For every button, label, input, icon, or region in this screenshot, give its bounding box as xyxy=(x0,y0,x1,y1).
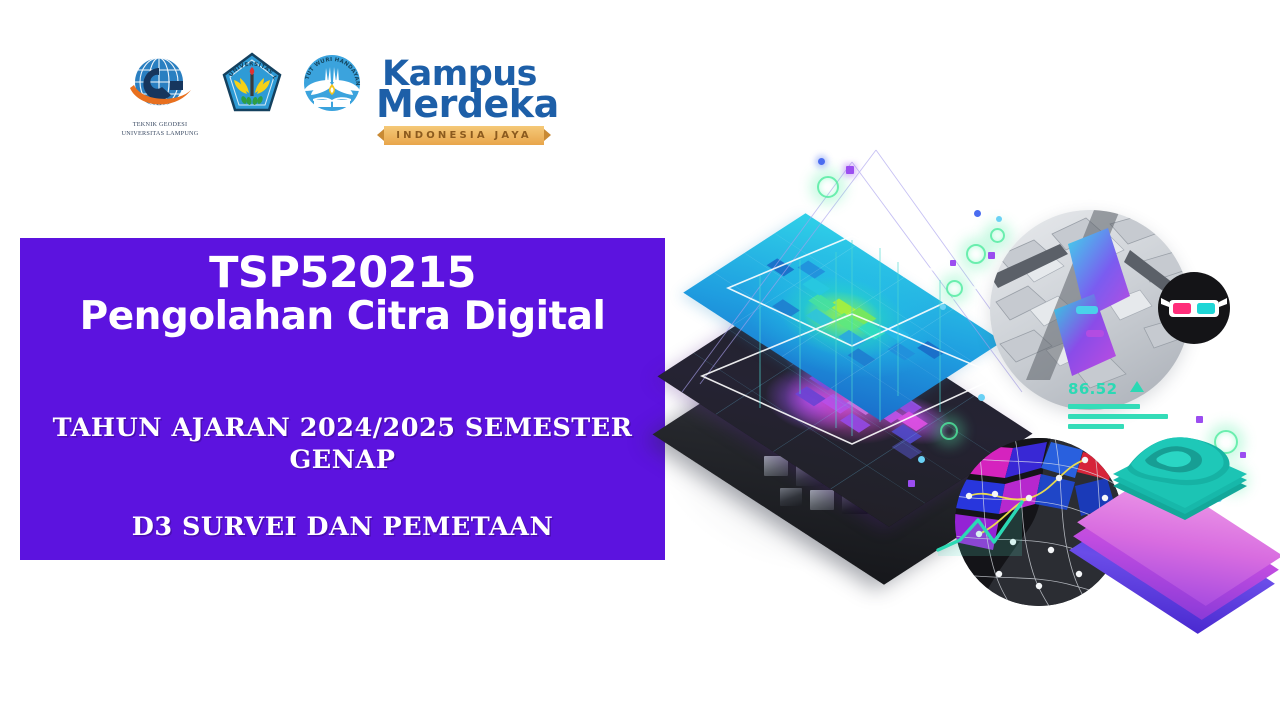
glow-ring xyxy=(817,176,839,198)
particle-square xyxy=(908,480,915,487)
academic-year: TAHUN AJARAN 2024/2025 SEMESTER GENAP xyxy=(20,412,665,477)
logo-tut-wuri-handayani: TUT WURI HANDAYANI xyxy=(296,48,368,148)
isometric-geospatial-illustration: 86.52 xyxy=(640,140,1260,590)
logo-caption: TEKNIK GEODESI UNIVERSITAS LAMPUNG xyxy=(112,120,208,139)
glow-ring xyxy=(966,244,986,264)
readout-bar xyxy=(1068,414,1168,419)
logo-universitas-lampung: UNIVERSITAS LAMPUNG xyxy=(216,48,288,148)
particle-dot xyxy=(996,216,1002,222)
kampus-merdeka-line2: Merdeka xyxy=(376,82,559,126)
particle-dot xyxy=(978,394,985,401)
course-title-block: TSP520215 Pengolahan Citra Digital TAHUN… xyxy=(20,238,665,560)
logo-bar: TEKNIK GEODESI UNIVERSITAS LAMPUNG UNIVE… xyxy=(112,48,572,148)
contour-elevation-stack xyxy=(1095,428,1265,578)
course-title: Pengolahan Citra Digital xyxy=(20,295,665,340)
logo-teknik-geodesi: TEKNIK GEODESI UNIVERSITAS LAMPUNG xyxy=(112,48,208,148)
glow-ring xyxy=(946,280,963,297)
trend-sparkline xyxy=(930,488,1050,568)
particle-dot xyxy=(974,210,981,217)
kemdikbud-seal-icon: TUT WURI HANDAYANI xyxy=(300,50,364,120)
logo-caption-line2: UNIVERSITAS LAMPUNG xyxy=(112,129,208,138)
particle-square xyxy=(846,166,854,174)
kampus-merdeka-ribbon-text: INDONESIA JAYA xyxy=(396,130,532,141)
3d-glasses-badge xyxy=(1158,272,1230,344)
logo-kampus-merdeka: Kampus Merdeka INDONESIA JAYA xyxy=(376,48,554,148)
particle-dot xyxy=(818,158,825,165)
particle-dot xyxy=(918,456,925,463)
course-code: TSP520215 xyxy=(20,238,665,295)
readout-value: 86.52 xyxy=(1068,380,1117,398)
particle-square xyxy=(950,260,956,266)
particle-dot xyxy=(940,304,946,310)
particle-square xyxy=(988,252,995,259)
3d-glasses-icon xyxy=(1158,272,1230,344)
glow-ring xyxy=(990,228,1005,243)
globe-g-icon xyxy=(126,54,194,120)
study-program: D3 SURVEI DAN PEMETAAN xyxy=(20,511,665,544)
contour-surface xyxy=(1097,424,1262,544)
unila-seal-icon: UNIVERSITAS LAMPUNG xyxy=(220,50,284,120)
logo-caption-line1: TEKNIK GEODESI xyxy=(112,120,208,129)
trend-up-icon xyxy=(1130,381,1144,392)
glow-ring xyxy=(940,422,958,440)
building-block xyxy=(810,490,834,510)
building-block xyxy=(780,488,802,506)
kampus-merdeka-ribbon: INDONESIA JAYA xyxy=(384,126,544,145)
readout-bar xyxy=(1068,404,1140,409)
